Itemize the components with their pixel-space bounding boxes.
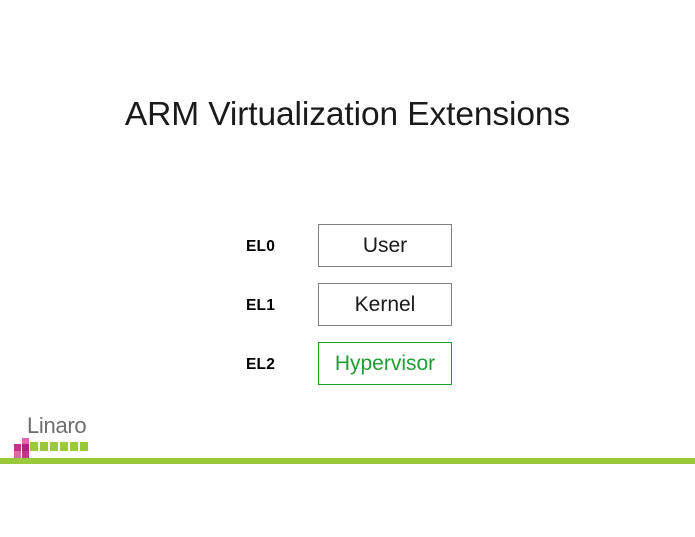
page-title: ARM Virtualization Extensions [0,96,695,134]
exception-level-box-user: User [318,224,452,267]
exception-level-label-el1: EL1 [246,283,275,328]
exception-level-label-el0: EL0 [246,224,275,269]
exception-level-label-el2: EL2 [246,342,275,387]
exception-level-box-hypervisor: Hypervisor [318,342,452,385]
logo-magenta-square-5 [22,451,29,458]
linaro-logo: Linaro [14,414,104,458]
logo-green-square-2 [40,442,48,451]
logo-magenta-square-4 [14,451,21,458]
logo-green-square-6 [80,442,88,451]
logo-magenta-square-1 [14,444,21,451]
slide: ARM Virtualization Extensions EL0 User E… [0,0,695,537]
logo-green-square-4 [60,442,68,451]
logo-magenta-square-3 [22,444,29,451]
footer-accent-bar [0,458,695,464]
exception-level-box-kernel: Kernel [318,283,452,326]
logo-green-square-1 [30,442,38,451]
linaro-wordmark: Linaro [27,414,86,438]
logo-green-square-5 [70,442,78,451]
logo-green-square-3 [50,442,58,451]
